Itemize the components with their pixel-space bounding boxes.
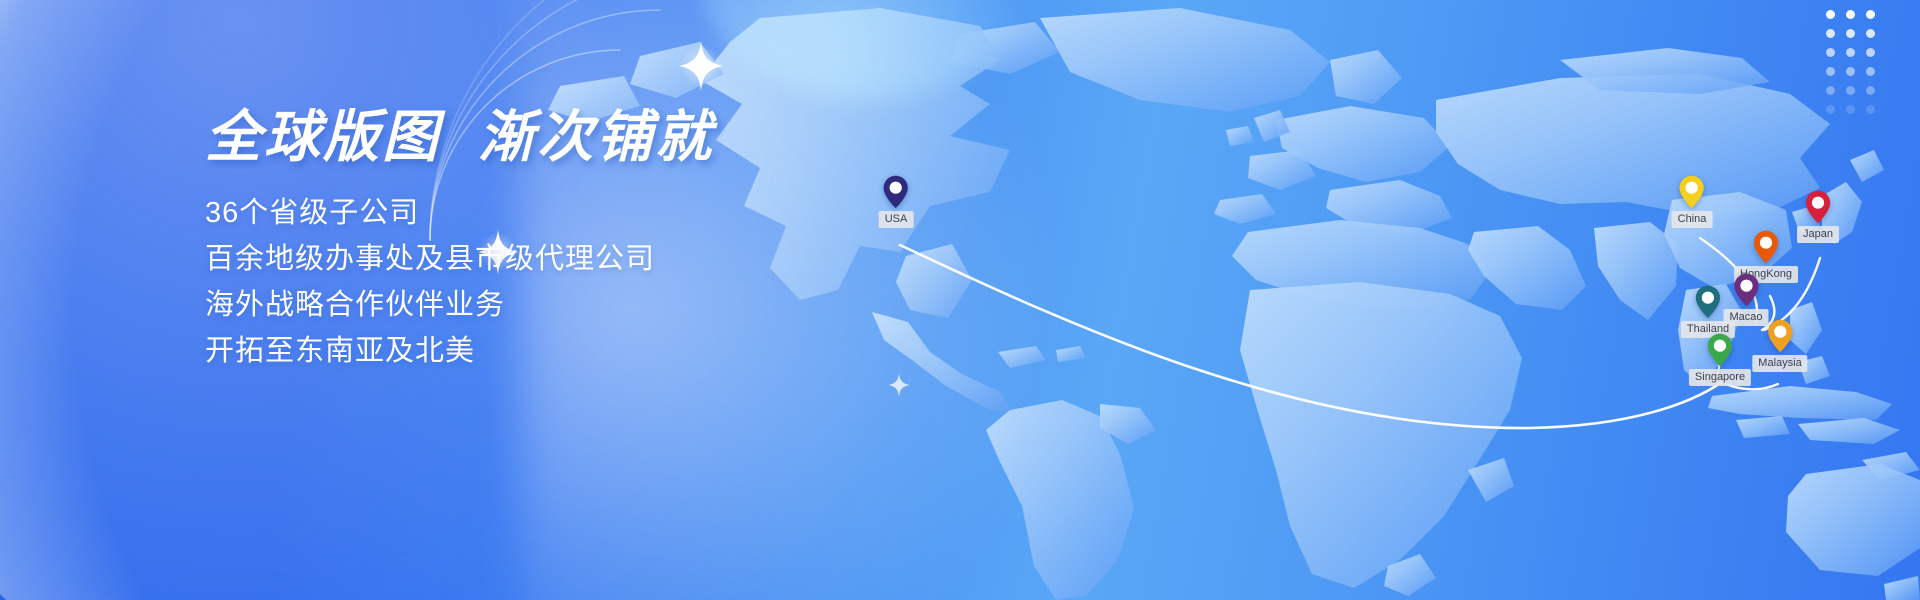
map-pin-icon — [1753, 230, 1779, 264]
map-marker-thailand[interactable]: Thailand — [1681, 285, 1735, 338]
map-pin-icon — [1679, 175, 1705, 209]
map-marker-usa[interactable]: USA — [879, 175, 914, 228]
map-pin-icon — [1805, 190, 1831, 224]
map-marker-label: Malaysia — [1752, 355, 1807, 372]
map-marker-label: China — [1672, 211, 1713, 228]
map-pin-icon — [1695, 285, 1721, 319]
map-marker-label: Japan — [1797, 226, 1839, 243]
map-markers: USAChinaJapanHongKongMacaoThailandMalays… — [0, 0, 1920, 600]
global-map-banner: 全球版图 渐次铺就 36个省级子公司 百余地级办事处及县市级代理公司 海外战略合… — [0, 0, 1920, 600]
map-marker-malaysia[interactable]: Malaysia — [1752, 319, 1807, 372]
map-pin-icon — [1767, 319, 1793, 353]
map-marker-japan[interactable]: Japan — [1797, 190, 1839, 243]
map-pin-icon — [1707, 333, 1733, 367]
map-marker-singapore[interactable]: Singapore — [1689, 333, 1751, 386]
map-pin-icon — [883, 175, 909, 209]
map-marker-china[interactable]: China — [1672, 175, 1713, 228]
map-pin-icon — [1733, 273, 1759, 307]
map-marker-label: Singapore — [1689, 369, 1751, 386]
map-marker-label: USA — [879, 211, 914, 228]
